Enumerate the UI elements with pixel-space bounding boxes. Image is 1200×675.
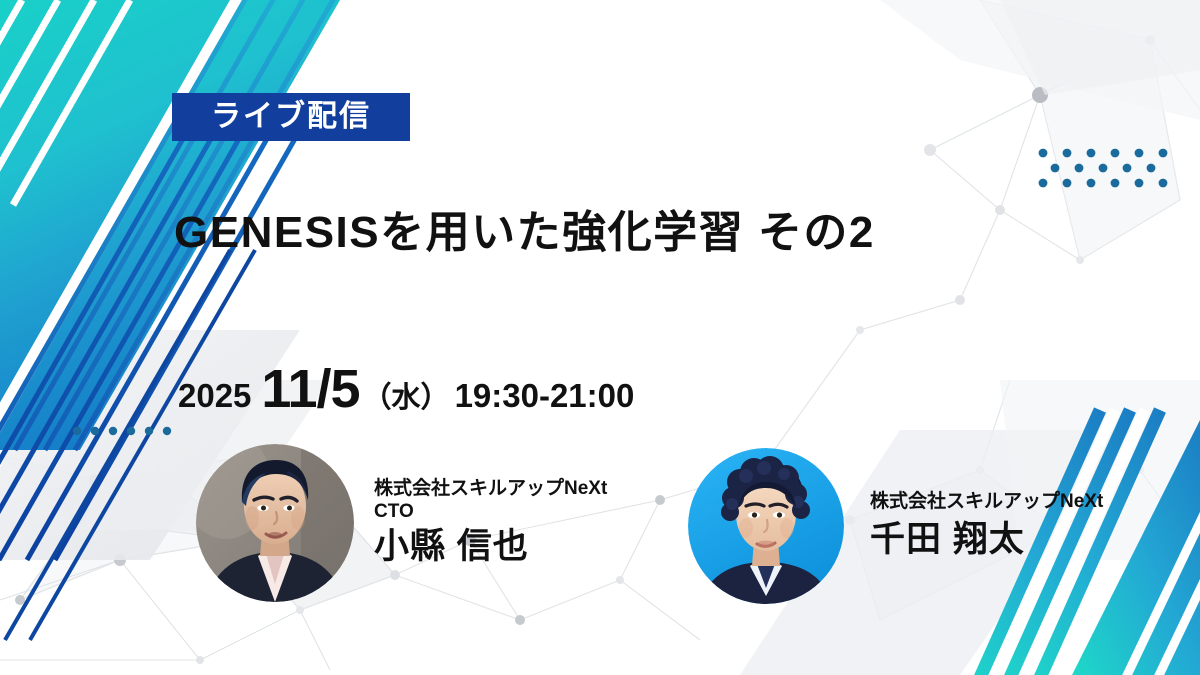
speaker-info-1: 株式会社スキルアップNeXt 千田 翔太 (870, 490, 1103, 562)
event-year: 2025 (178, 377, 251, 415)
live-badge-label: ライブ配信 (211, 102, 371, 132)
speaker-info-0: 株式会社スキルアップNeXt CTO 小縣 信也 (374, 477, 607, 569)
speaker-card-0: 株式会社スキルアップNeXt CTO 小縣 信也 (196, 444, 607, 602)
live-badge: ライブ配信 (172, 93, 410, 141)
event-datetime: 2025 11/5 （水） 19:30-21:00 (178, 358, 634, 420)
speaker-card-1: 株式会社スキルアップNeXt 千田 翔太 (688, 448, 1103, 604)
page-title: GENESISを用いた強化学習 その2 (174, 208, 875, 259)
speaker-name-0: 小縣 信也 (374, 526, 607, 569)
event-time: 19:30-21:00 (455, 377, 635, 415)
avatar-1 (688, 448, 844, 604)
speaker-role-0: CTO (374, 500, 607, 523)
dot-row-left (72, 424, 182, 438)
dot-grid-right (1038, 148, 1168, 188)
top-right-polygon-highlight (1000, 0, 1200, 95)
speaker-company-0: 株式会社スキルアップNeXt (374, 477, 607, 500)
event-month-day: 11/5 (261, 358, 359, 420)
speaker-name-1: 千田 翔太 (870, 519, 1103, 562)
seminar-banner: ライブ配信 GENESISを用いた強化学習 その2 2025 11/5 （水） … (0, 0, 1200, 675)
speaker-company-1: 株式会社スキルアップNeXt (870, 490, 1103, 513)
avatar-0 (196, 444, 354, 602)
event-day-of-week: （水） (363, 374, 450, 416)
